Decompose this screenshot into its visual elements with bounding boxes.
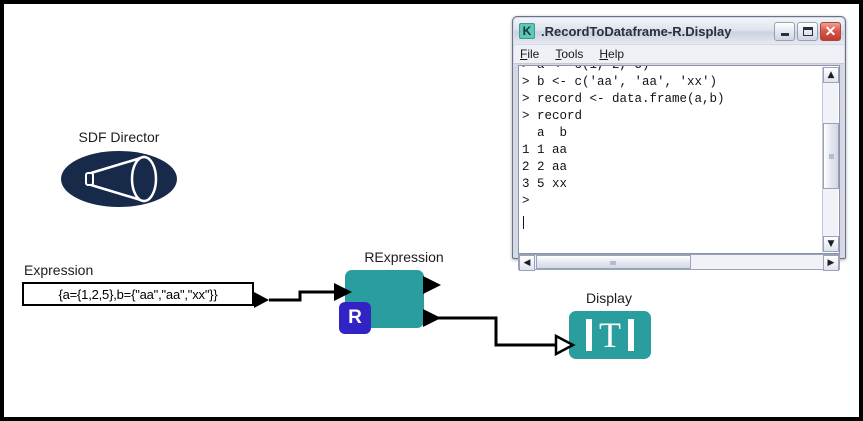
wire-rexpression-to-display xyxy=(436,318,561,345)
scroll-down-icon[interactable]: ▼ xyxy=(823,236,839,252)
close-icon: ✕ xyxy=(825,24,837,38)
rexpression-output-port-bottom xyxy=(423,309,441,327)
expression-value-box[interactable]: {a={1,2,5},b={"aa","aa","xx"}} xyxy=(22,282,254,306)
r-console-text: > a <- c(1, 2, 5) > b <- c('aa', 'aa', '… xyxy=(522,65,810,210)
maximize-icon xyxy=(803,27,813,36)
scrollbar-grip xyxy=(829,154,834,159)
sdf-director[interactable]: SDF Director xyxy=(54,129,184,209)
horizontal-scrollbar-thumb[interactable] xyxy=(536,255,691,269)
window-title: .RecordToDataframe-R.Display xyxy=(541,24,772,39)
expression-actor[interactable]: Expression {a={1,2,5},b={"aa","aa","xx"}… xyxy=(22,262,254,306)
rexpression-label: RExpression xyxy=(334,249,474,265)
rexpression-r-badge: R xyxy=(339,302,371,334)
menu-help[interactable]: Help xyxy=(599,47,624,61)
expression-value: {a={1,2,5},b={"aa","aa","xx"}} xyxy=(58,287,217,302)
scrollbar-grip-h xyxy=(610,261,616,265)
maximize-button[interactable] xyxy=(797,22,818,41)
rexpression-output-port-top xyxy=(423,276,441,294)
scroll-right-icon[interactable]: ▶ xyxy=(823,255,839,271)
close-button[interactable]: ✕ xyxy=(820,22,841,41)
text-caret xyxy=(523,216,524,229)
display-text-icon: T xyxy=(569,311,651,359)
vertical-scrollbar[interactable]: ▲ ▼ xyxy=(822,67,838,252)
sdf-director-megaphone-icon xyxy=(61,151,177,207)
r-display-window[interactable]: K .RecordToDataframe-R.Display ✕ File To… xyxy=(512,16,846,259)
horizontal-scrollbar[interactable]: ◀ ▶ xyxy=(518,254,840,270)
expression-label: Expression xyxy=(22,262,254,278)
app-k-icon: K xyxy=(519,23,535,39)
wire-expression-to-rexpression xyxy=(269,292,336,300)
window-titlebar[interactable]: K .RecordToDataframe-R.Display ✕ xyxy=(514,18,844,44)
scroll-left-icon[interactable]: ◀ xyxy=(519,255,535,271)
menu-tools[interactable]: Tools xyxy=(555,47,583,61)
display-label: Display xyxy=(549,290,669,306)
sdf-director-label: SDF Director xyxy=(54,129,184,145)
workflow-canvas: SDF Director Expression {a={1,2,5},b={"a… xyxy=(0,0,863,421)
display-bar-left xyxy=(586,319,592,351)
minimize-button[interactable] xyxy=(774,22,795,41)
scroll-up-icon[interactable]: ▲ xyxy=(823,67,839,83)
window-menubar[interactable]: File Tools Help xyxy=(514,45,844,64)
r-console-area[interactable]: > a <- c(1, 2, 5) > b <- c('aa', 'aa', '… xyxy=(518,65,840,254)
menu-file[interactable]: File xyxy=(520,47,539,61)
expression-output-port xyxy=(254,292,269,308)
display-t-glyph: T xyxy=(599,319,621,351)
display-bar-right xyxy=(628,319,634,351)
minimize-icon xyxy=(781,33,789,36)
vertical-scrollbar-thumb[interactable] xyxy=(823,123,839,189)
